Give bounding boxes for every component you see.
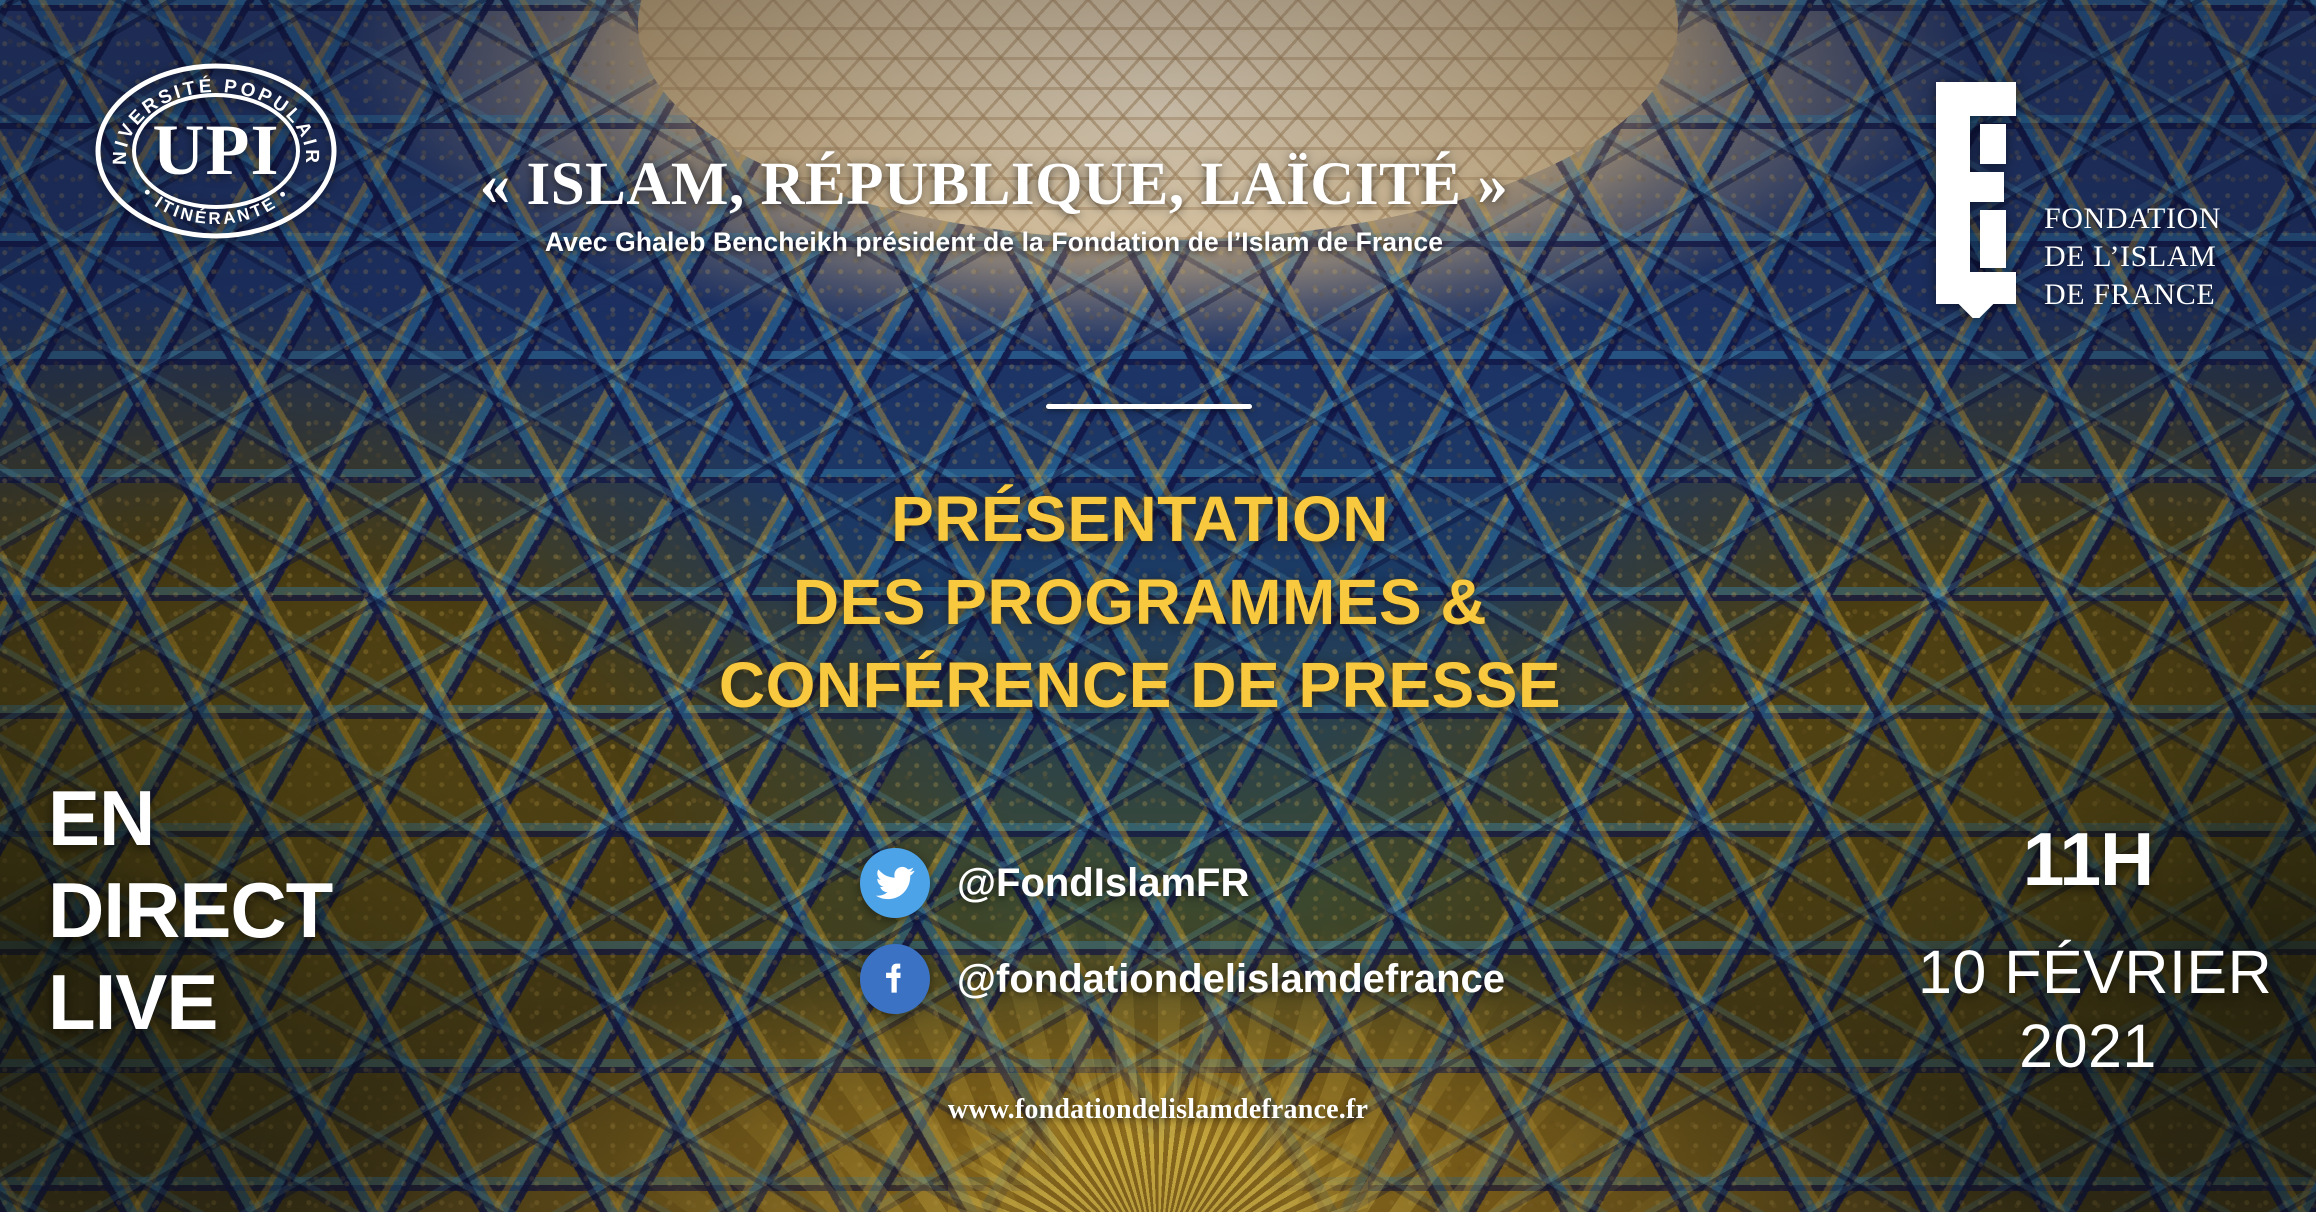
header-block: « ISLAM, RÉPUBLIQUE, LAÏCITÉ » Avec Ghal… bbox=[376, 152, 1612, 258]
heading-line-1: PRÉSENTATION bbox=[430, 478, 1850, 561]
website-url[interactable]: www.fondationdelislamdefrance.fr bbox=[0, 1094, 2316, 1126]
fif-word-line-2: DE L’ISLAM bbox=[2044, 238, 2221, 276]
fif-monogram-icon bbox=[1930, 76, 2022, 318]
event-when-block: 11H 10 FÉVRIER 2021 bbox=[1918, 822, 2258, 1084]
social-links: @FondIslamFR @fondationdelislamdefrance bbox=[860, 848, 1505, 1014]
facebook-icon[interactable] bbox=[860, 944, 930, 1014]
fondation-islam-france-logo: FONDATION DE L’ISLAM DE FRANCE bbox=[1930, 76, 2221, 318]
live-badge: EN DIRECT LIVE bbox=[48, 772, 332, 1048]
heading-line-3: CONFÉRENCE DE PRESSE bbox=[430, 644, 1850, 727]
fif-word-line-1: FONDATION bbox=[2044, 200, 2221, 238]
page-subtitle: Avec Ghaleb Bencheikh président de la Fo… bbox=[376, 227, 1612, 258]
event-date-line-1: 10 FÉVRIER bbox=[1918, 935, 2258, 1009]
facebook-handle[interactable]: @fondationdelislamdefrance bbox=[957, 957, 1505, 1002]
fif-word-line-3: DE FRANCE bbox=[2044, 276, 2221, 314]
twitter-icon[interactable] bbox=[860, 848, 930, 918]
twitter-handle[interactable]: @FondIslamFR bbox=[957, 861, 1249, 906]
fif-logo-wordmark: FONDATION DE L’ISLAM DE FRANCE bbox=[2044, 200, 2221, 313]
svg-text:UPI: UPI bbox=[153, 110, 280, 190]
live-line-3: LIVE bbox=[48, 956, 332, 1048]
social-row-facebook[interactable]: @fondationdelislamdefrance bbox=[860, 944, 1505, 1014]
page-title: « ISLAM, RÉPUBLIQUE, LAÏCITÉ » bbox=[376, 152, 1612, 218]
social-row-twitter[interactable]: @FondIslamFR bbox=[860, 848, 1505, 918]
upi-seal-icon: UNIVERSITÉ POPULAIRE • ITINÉRANTE • UPI bbox=[92, 62, 340, 240]
header-divider bbox=[1046, 404, 1252, 409]
event-poster: UNIVERSITÉ POPULAIRE • ITINÉRANTE • UPI … bbox=[0, 0, 2316, 1212]
event-time: 11H bbox=[1918, 822, 2258, 897]
main-heading: PRÉSENTATION DES PROGRAMMES & CONFÉRENCE… bbox=[430, 478, 1850, 728]
live-line-1: EN bbox=[48, 772, 332, 864]
live-line-2: DIRECT bbox=[48, 864, 332, 956]
event-date-line-2: 2021 bbox=[1918, 1009, 2258, 1083]
event-date: 10 FÉVRIER 2021 bbox=[1918, 935, 2258, 1084]
heading-line-2: DES PROGRAMMES & bbox=[430, 561, 1850, 644]
